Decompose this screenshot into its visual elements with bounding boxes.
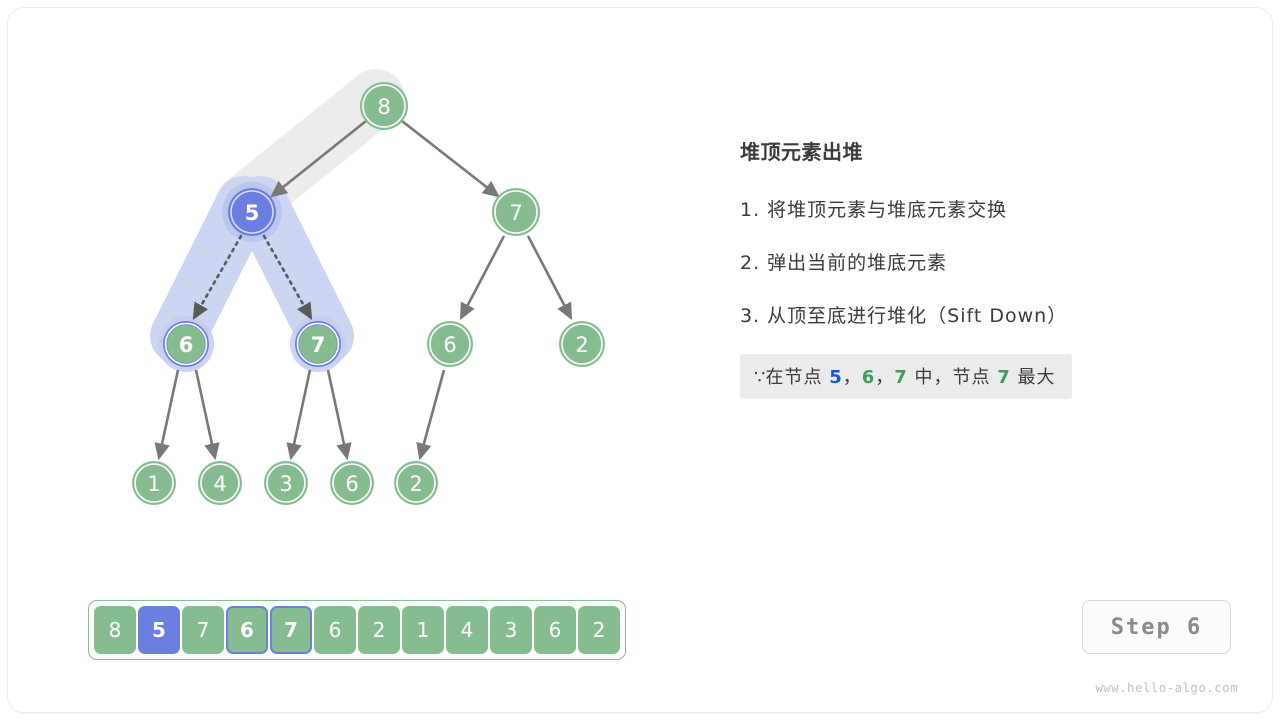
diagram-card: 8 5 7 6 xyxy=(8,8,1272,712)
tree-node-label: 3 xyxy=(279,472,292,496)
note-sep-1: ， xyxy=(843,367,862,388)
array-cell[interactable]: 2 xyxy=(578,606,620,654)
array-cell[interactable]: 8 xyxy=(94,606,136,654)
status-badge: Step 6 xyxy=(1082,600,1231,654)
array-cell[interactable]: 7 xyxy=(270,606,312,654)
note-prefix: 在节点 xyxy=(765,367,829,388)
step-item-2-label: 2. 弹出当前的堆底元素 xyxy=(740,252,947,274)
note-value-2: 6 xyxy=(862,367,876,388)
note-callout: ∵在节点 5，6，7 中，节点 7 最大 xyxy=(740,354,1072,399)
tree-node-leaf-3[interactable]: 3 xyxy=(264,461,308,505)
edge-7-6 xyxy=(461,236,504,318)
tree-node-2-right[interactable]: 2 xyxy=(559,321,605,367)
tree-node-label: 2 xyxy=(409,472,422,496)
tree-node-label: 6 xyxy=(345,472,358,496)
step-item-1: 1. 将堆顶元素与堆底元素交换 xyxy=(740,195,1220,222)
tree-node-6-right[interactable]: 6 xyxy=(427,321,473,367)
note-value-4: 7 xyxy=(997,367,1011,388)
note-value-1: 5 xyxy=(829,367,843,388)
tree-node-label: 5 xyxy=(245,201,260,225)
tree-node-leaf-2[interactable]: 2 xyxy=(394,461,438,505)
step-item-3: 3. 从顶至底进行堆化（Sift Down） xyxy=(740,301,1220,328)
explanation-panel: 堆顶元素出堆 1. 将堆顶元素与堆底元素交换 2. 弹出当前的堆底元素 3. 从… xyxy=(740,136,1220,399)
tree-node-7-right[interactable]: 7 xyxy=(492,188,540,236)
step-item-2: 2. 弹出当前的堆底元素 xyxy=(740,248,1220,275)
array-cell[interactable]: 5 xyxy=(138,606,180,654)
tree-node-label: 4 xyxy=(213,472,226,496)
because-symbol-icon: ∵ xyxy=(754,367,765,388)
tree-node-label: 7 xyxy=(509,201,522,225)
note-middle: 中，节点 xyxy=(908,367,997,388)
edge-7b-3 xyxy=(291,370,310,458)
array-cell[interactable]: 7 xyxy=(182,606,224,654)
edge-7b-6 xyxy=(328,370,347,458)
step-item-1-label: 1. 将堆顶元素与堆底元素交换 xyxy=(740,199,1007,221)
edge-8-7 xyxy=(402,121,498,196)
array-cell[interactable]: 1 xyxy=(402,606,444,654)
edge-6-1 xyxy=(159,370,178,458)
array-cell[interactable]: 4 xyxy=(446,606,488,654)
edge-6-4 xyxy=(196,370,215,458)
array-cell[interactable]: 2 xyxy=(358,606,400,654)
tree-node-leaf-4[interactable]: 4 xyxy=(198,461,242,505)
tree-node-label: 6 xyxy=(179,333,194,357)
array-cell[interactable]: 6 xyxy=(314,606,356,654)
note-value-3: 7 xyxy=(894,367,908,388)
tree-node-label: 7 xyxy=(311,333,326,357)
note-suffix: 最大 xyxy=(1011,367,1056,388)
tree-node-leaf-6[interactable]: 6 xyxy=(330,461,374,505)
edge-7-2 xyxy=(528,236,571,318)
heap-array: 8 5 7 6 7 6 2 1 4 3 6 2 xyxy=(88,600,626,660)
array-cell[interactable]: 6 xyxy=(226,606,268,654)
array-cell[interactable]: 3 xyxy=(490,606,532,654)
tree-node-6-left[interactable]: 6 xyxy=(163,321,209,367)
tree-node-label: 6 xyxy=(443,333,456,357)
array-cell[interactable]: 6 xyxy=(534,606,576,654)
tree-node-label: 1 xyxy=(147,472,160,496)
tree-node-8[interactable]: 8 xyxy=(360,82,408,130)
tree-node-label: 2 xyxy=(575,333,588,357)
edge-6b-2 xyxy=(420,370,444,458)
tree-node-5[interactable]: 5 xyxy=(228,188,276,236)
tree-node-label: 8 xyxy=(377,95,390,119)
step-item-3-label: 3. 从顶至底进行堆化（Sift Down） xyxy=(740,305,1067,327)
page-title: 堆顶元素出堆 xyxy=(740,136,1220,165)
note-sep-2: ， xyxy=(875,367,894,388)
watermark: www.hello-algo.com xyxy=(1078,680,1238,695)
tree-node-7-left[interactable]: 7 xyxy=(295,321,341,367)
tree-node-leaf-1[interactable]: 1 xyxy=(132,461,176,505)
